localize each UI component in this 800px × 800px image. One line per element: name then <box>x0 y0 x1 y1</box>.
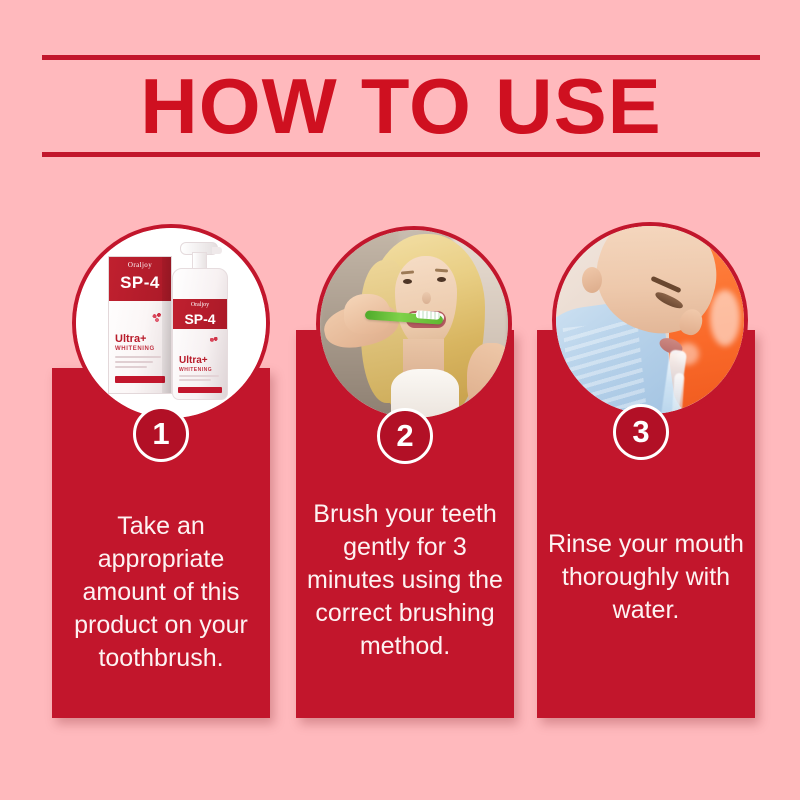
product-bottle-line2: WHITENING <box>179 367 212 373</box>
product-box-copy-lines <box>115 356 161 371</box>
step-2-text: Brush your teeth gently for 3 minutes us… <box>302 498 508 663</box>
product-bottle-copy-lines <box>179 375 219 383</box>
woman-shoulder-right <box>467 343 508 418</box>
product-bottle-brand: Oraljoy <box>173 302 227 308</box>
brushing-photo-scene <box>320 230 508 418</box>
product-bottle-footer-band <box>178 387 222 393</box>
product-box-line2: WHITENING <box>115 346 155 352</box>
product-pump-nozzle <box>212 247 222 254</box>
step-1-text: Take an appropriate amount of this produ… <box>58 510 264 675</box>
step-3-photo-inner <box>556 226 744 414</box>
woman-blue-shirt-folds <box>563 320 647 414</box>
step-2-photo <box>316 226 512 422</box>
woman-eye-right <box>437 277 446 282</box>
product-box-line1: Ultra+ <box>115 333 147 345</box>
step-1-photo: Oraljoy SP-4 Ultra+ WHITENING Oraljoy <box>72 224 270 422</box>
step-2-photo-inner <box>320 230 508 418</box>
step-3-number-badge: 3 <box>613 404 669 460</box>
step-1-number-badge: 1 <box>133 406 189 462</box>
product-box-spine <box>162 257 171 393</box>
product-box-footer-band <box>115 376 165 383</box>
product-bottle: Oraljoy SP-4 Ultra+ WHITENING <box>172 268 228 400</box>
rinsing-photo-scene <box>556 226 744 414</box>
woman-eye-left <box>403 279 412 284</box>
step-1-photo-inner: Oraljoy SP-4 Ultra+ WHITENING Oraljoy <box>76 228 266 418</box>
product-bottle-name: SP-4 <box>173 311 227 327</box>
toothbrush-bristles <box>416 310 440 320</box>
step-2-number-badge: 2 <box>377 408 433 464</box>
woman-nose <box>422 292 431 304</box>
steps-container: Take an appropriate amount of this produ… <box>0 0 800 800</box>
product-photo-scene: Oraljoy SP-4 Ultra+ WHITENING Oraljoy <box>76 228 266 418</box>
product-bottle-swirl-icon <box>207 335 221 347</box>
product-bottle-line1: Ultra+ <box>179 355 208 366</box>
product-box: Oraljoy SP-4 Ultra+ WHITENING <box>108 256 172 394</box>
step-3-photo <box>552 222 748 418</box>
step-3-text: Rinse your mouth thoroughly with water. <box>543 528 749 627</box>
